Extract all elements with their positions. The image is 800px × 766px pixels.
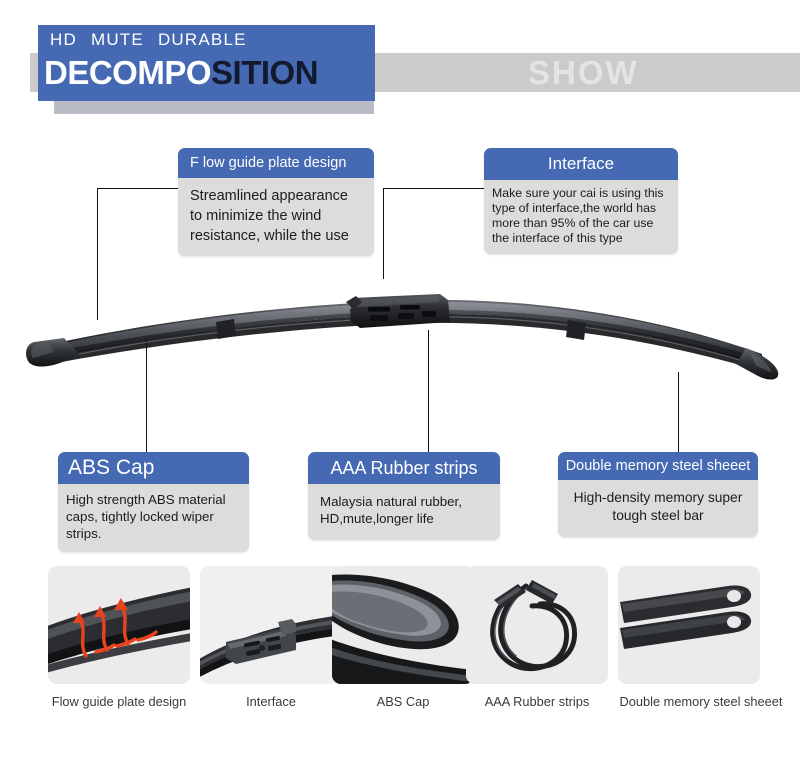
callout-interface[interactable]: Interface Make sure your cai is using th…	[484, 148, 678, 254]
wiper-blade-hero-image	[20, 262, 790, 402]
thumbnail-aaa-rubber-strips[interactable]	[466, 566, 608, 684]
wiper-blade-illustration	[20, 262, 790, 402]
wiper-airflow-photo-icon	[48, 566, 190, 684]
thumbnail-label-double-memory-steel-sheeet: Double memory steel sheeet	[606, 694, 796, 709]
callout-aaa-rubber-strips[interactable]: AAA Rubber strips Malaysia natural rubbe…	[308, 452, 500, 540]
thumbnail-strip: Flow guide plate design Interface	[0, 566, 800, 736]
page-title-part-dark: SITION	[211, 54, 318, 91]
thumbnail-abs-cap[interactable]	[332, 566, 474, 684]
leader-line-interface-horizontal	[383, 188, 484, 189]
callout-body-double-memory-steel-sheeet: High-density memory super tough steel ba…	[558, 480, 758, 537]
rubber-strip-coil-photo-icon	[466, 566, 608, 684]
callout-abs-cap[interactable]: ABS Cap High strength ABS material caps,…	[58, 452, 249, 552]
page-title: DECOMPOSITION	[44, 54, 318, 92]
callout-flow-guide-plate-design[interactable]: F low guide plate design Streamlined app…	[178, 148, 374, 256]
callout-title-aaa-rubber-strips: AAA Rubber strips	[308, 452, 500, 484]
header-keyword-hd: HD	[50, 30, 77, 49]
wiper-connector-block	[346, 294, 450, 328]
page-title-part-blue: DECOMPO	[44, 54, 211, 91]
blade-mid-clip-left	[216, 319, 236, 339]
thumbnail-interface[interactable]	[200, 566, 342, 684]
wiper-end-cap-photo-icon	[332, 566, 474, 684]
callout-title-double-memory-steel-sheeet: Double memory steel sheeet	[558, 452, 758, 480]
header-subtitle: HDMUTEDURABLE	[50, 30, 261, 50]
blade-mid-clip-right	[566, 320, 586, 340]
header-banner: HDMUTEDURABLE DECOMPOSITION SHOW	[0, 0, 800, 140]
header-watermark: SHOW	[528, 54, 639, 92]
thumbnail-label-interface: Interface	[200, 694, 342, 709]
header-keyword-durable: DURABLE	[158, 30, 247, 49]
thumbnail-label-flow-guide-plate-design: Flow guide plate design	[48, 694, 190, 709]
callout-body-abs-cap: High strength ABS material caps, tightly…	[58, 484, 249, 552]
callout-body-interface: Make sure your cai is using this type of…	[484, 180, 678, 254]
thumbnail-flow-guide-plate-design[interactable]	[48, 566, 190, 684]
callout-title-interface: Interface	[484, 148, 678, 180]
leader-line-flow-guide-horizontal	[97, 188, 178, 189]
callout-title-flow-guide-plate-design: F low guide plate design	[178, 148, 374, 178]
callout-body-aaa-rubber-strips: Malaysia natural rubber, HD,mute,longer …	[308, 484, 500, 540]
wiper-connector-photo-icon	[200, 566, 342, 684]
callout-title-abs-cap: ABS Cap	[58, 452, 249, 484]
callout-body-flow-guide-plate-design: Streamlined appearance to minimize the w…	[178, 178, 374, 256]
thumbnail-double-memory-steel-sheeet[interactable]	[618, 566, 760, 684]
steel-bars-photo-icon	[618, 566, 760, 684]
callout-double-memory-steel-sheeet[interactable]: Double memory steel sheeet High-density …	[558, 452, 758, 537]
header-keyword-mute: MUTE	[91, 30, 144, 49]
thumbnail-label-aaa-rubber-strips: AAA Rubber strips	[452, 694, 622, 709]
